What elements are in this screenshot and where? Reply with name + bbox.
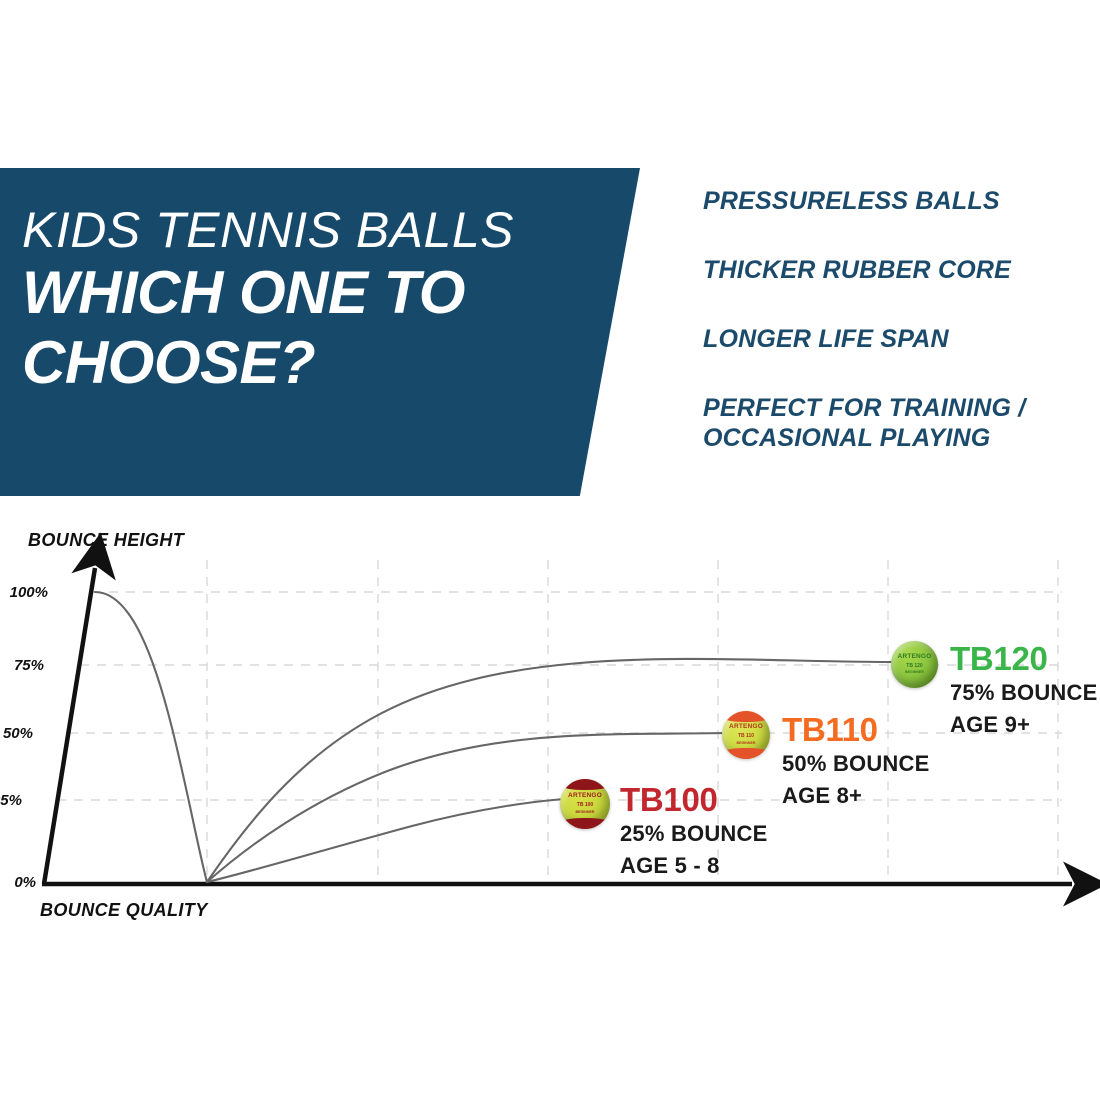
title-panel: KIDS TENNIS BALLS WHICH ONE TO CHOOSE? [0,168,640,496]
ball-label-tb110: TB110 50% BOUNCE AGE 8+ [782,712,929,812]
ball-age-tb120: AGE 9+ [950,709,1097,741]
ball-model-tb100: TB 100 [560,802,610,808]
ball-model-tb110: TB 110 [722,733,770,739]
y-tick-25: 25% [0,792,22,809]
feature-item-pressureless-balls: PRESSURELESS BALLS [703,186,1093,216]
ball-brand-tb100: ARTENGO [560,792,610,799]
page-title-line-1: KIDS TENNIS BALLS [22,202,600,258]
y-tick-75: 75% [14,657,44,674]
ball-brand-tb110: ARTENGO [722,723,770,730]
ball-sub-tb100: BEGINNER [560,810,610,815]
ball-sub-tb110: BEGINNER [722,741,770,746]
ball-bounce-tb100: 25% BOUNCE [620,818,767,850]
curve-drop [95,592,207,882]
ball-label-tb120: TB120 75% BOUNCE AGE 9+ [950,641,1097,741]
tennis-ball-tb120-icon: ARTENGO TB 120 BEGINNER [891,641,938,688]
curve-tb100 [207,798,580,882]
page-title-line-3: CHOOSE? [22,328,600,398]
tennis-ball-tb100-icon: ARTENGO TB 100 BEGINNER [560,779,610,829]
y-tick-100: 100% [10,584,48,601]
feature-list: PRESSURELESS BALLS THICKER RUBBER CORE L… [703,186,1093,453]
bounce-chart: BOUNCE HEIGHT BOUNCE QUALITY 100% 75% 50… [0,0,1100,1100]
ball-bounce-tb110: 50% BOUNCE [782,748,929,780]
y-axis-title: BOUNCE HEIGHT [28,530,186,550]
x-axis-title: BOUNCE QUALITY [40,900,209,920]
tennis-ball-tb110-icon: ARTENGO TB 110 BEGINNER [722,711,770,759]
ball-sub-tb120: BEGINNER [891,670,938,675]
page-title-line-2: WHICH ONE TO [22,258,600,328]
ball-brand-tb120: ARTENGO [891,653,938,660]
ball-label-tb100: TB100 25% BOUNCE AGE 5 - 8 [620,782,767,882]
ball-age-tb110: AGE 8+ [782,780,929,812]
y-tick-0: 0% [14,874,36,891]
feature-item-perfect-for-training: PERFECT FOR TRAINING / OCCASIONAL PLAYIN… [703,393,1093,453]
ball-bounce-tb120: 75% BOUNCE [950,677,1097,709]
y-tick-50: 50% [3,725,33,742]
ball-age-tb100: AGE 5 - 8 [620,850,767,882]
feature-item-longer-life-span: LONGER LIFE SPAN [703,324,1093,354]
ball-code-tb100: TB100 [620,782,767,818]
ball-model-tb120: TB 120 [891,663,938,669]
ball-code-tb120: TB120 [950,641,1097,677]
feature-item-thicker-rubber-core: THICKER RUBBER CORE [703,255,1093,285]
ball-code-tb110: TB110 [782,712,929,748]
curves [95,592,895,882]
y-axis [44,568,95,884]
